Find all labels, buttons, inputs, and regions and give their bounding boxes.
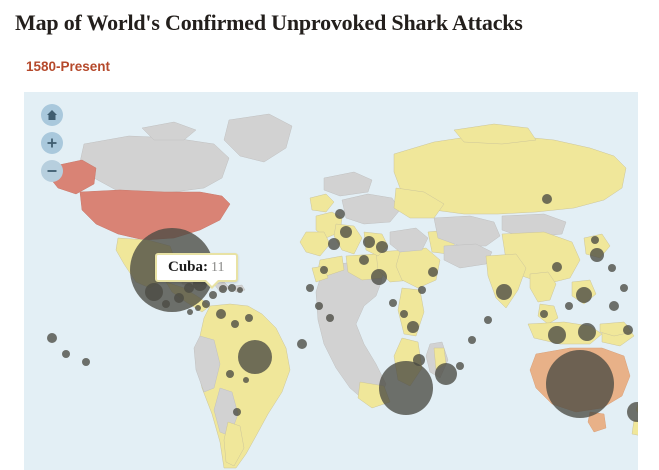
minus-icon: [46, 165, 58, 177]
map-zoom-in-button[interactable]: [41, 132, 63, 154]
world-map-container[interactable]: .ld { fill:#d2d2d2; stroke:#c0c0c0; stro…: [24, 92, 638, 470]
tooltip-country: Cuba:: [168, 259, 208, 275]
map-tooltip: Cuba:11: [155, 253, 238, 282]
plus-icon: [46, 137, 58, 149]
page-title: Map of World's Confirmed Unprovoked Shar…: [15, 10, 523, 36]
shark-attack-map-page: Map of World's Confirmed Unprovoked Shar…: [0, 0, 659, 470]
tooltip-value: 11: [211, 260, 224, 275]
page-subtitle: 1580-Present: [26, 59, 110, 74]
tooltip-arrow: [203, 280, 221, 289]
world-map-svg[interactable]: .ld { fill:#d2d2d2; stroke:#c0c0c0; stro…: [24, 92, 638, 470]
home-icon: [46, 109, 58, 121]
map-home-button[interactable]: [41, 104, 63, 126]
map-zoom-out-button[interactable]: [41, 160, 63, 182]
